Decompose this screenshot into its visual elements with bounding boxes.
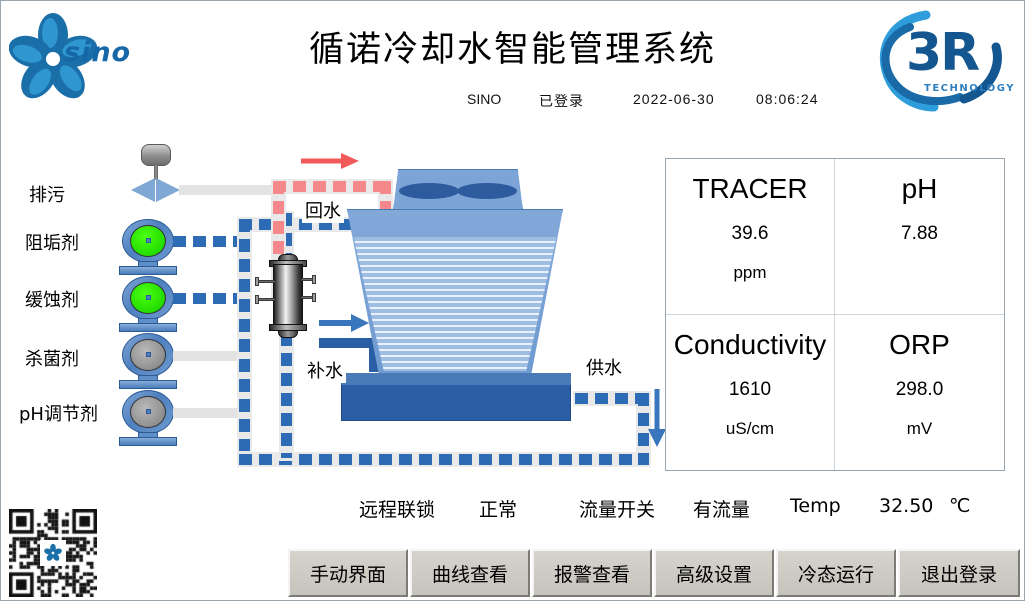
fan-blade-right-icon <box>457 183 517 199</box>
advanced-settings-button[interactable]: 高级设置 <box>654 549 774 597</box>
measurement-cell-conductivity: Conductivity 1610 uS/cm <box>666 315 835 471</box>
label-corrosion-inhibitor: 缓蚀剂 <box>25 286 79 312</box>
login-status: 已登录 <box>539 91 584 111</box>
tracer-name: TRACER <box>692 173 807 205</box>
flow-pipe-left-riser <box>239 219 250 451</box>
remote-interlock-value: 正常 <box>479 495 517 522</box>
conductivity-name: Conductivity <box>674 329 827 361</box>
conductivity-value: 1610 <box>729 379 771 401</box>
qr-code[interactable] <box>9 509 97 597</box>
flow-switch-value: 有流量 <box>693 495 750 522</box>
system-time: 08:06:24 <box>756 91 819 107</box>
trend-view-button[interactable]: 曲线查看 <box>410 549 530 597</box>
cooling-tower[interactable] <box>301 161 601 421</box>
blowdown-pipe <box>179 185 285 195</box>
bottom-button-bar: 手动界面 曲线查看 报警查看 高级设置 冷态运行 退出登录 <box>288 549 1020 597</box>
alarm-view-button[interactable]: 报警查看 <box>532 549 652 597</box>
ph-name: pH <box>902 173 938 205</box>
temp-unit: ℃ <box>949 495 970 517</box>
label-supply-water: 供水 <box>583 354 625 380</box>
header: sino 循诺冷却水智能管理系统 SINO 已登录 2022-06-30 08:… <box>1 1 1024 119</box>
pump-corrosion-inhibitor[interactable] <box>119 276 177 332</box>
tracer-unit: ppm <box>733 263 766 283</box>
temp-value: 32.50 <box>879 495 933 517</box>
hmi-screen: sino 循诺冷却水智能管理系统 SINO 已登录 2022-06-30 08:… <box>0 0 1025 601</box>
pump-shaft-icon <box>146 352 151 357</box>
vessel-shell-icon <box>273 264 303 328</box>
pump-base-icon <box>119 323 177 332</box>
pump-base-icon <box>119 380 177 389</box>
ph-value: 7.88 <box>901 223 938 245</box>
vessel-flange-l2-icon <box>255 295 259 304</box>
orp-name: ORP <box>889 329 950 361</box>
dose-line-scale-inhibitor <box>173 236 245 247</box>
tracer-value: 39.6 <box>732 223 769 245</box>
pump-shaft-icon <box>146 409 151 414</box>
pump-shaft-icon <box>146 295 151 300</box>
logout-button[interactable]: 退出登录 <box>898 549 1020 597</box>
valve-body-left-icon <box>131 178 155 202</box>
dose-line-biocide <box>173 351 245 361</box>
pump-biocide[interactable] <box>119 333 177 389</box>
vessel-flange-l1-icon <box>255 277 259 286</box>
valve-actuator-icon <box>141 144 171 166</box>
vessel-nozzle-left-upper-icon <box>257 280 275 283</box>
label-ph-adjuster: pH调节剂 <box>19 400 98 426</box>
conductivity-unit: uS/cm <box>726 419 774 439</box>
flow-pipe-bottom-header <box>239 454 639 465</box>
current-user: SINO <box>467 91 501 107</box>
temp-label: Temp <box>790 495 841 517</box>
tower-basin-waterline-icon <box>341 373 571 385</box>
cold-start-button[interactable]: 冷态运行 <box>776 549 896 597</box>
label-makeup-water: 补水 <box>304 357 346 383</box>
measurement-cell-ph: pH 7.88 <box>835 159 1004 315</box>
orp-value: 298.0 <box>896 379 944 401</box>
fan-blade-left-icon <box>399 183 459 199</box>
dose-line-corrosion-inhibitor <box>173 293 245 304</box>
3r-technology-logo: 3R TECHNOLOGY <box>868 3 1018 115</box>
measurement-cell-orp: ORP 298.0 mV <box>835 315 1004 471</box>
sino-mini-icon <box>43 543 63 563</box>
label-scale-inhibitor: 阻垢剂 <box>25 229 79 255</box>
pump-base-icon <box>119 437 177 446</box>
pump-base-icon <box>119 266 177 275</box>
measurement-panel: TRACER 39.6 ppm pH 7.88 Conductivity 161… <box>665 158 1005 471</box>
3r-logo-text: 3R <box>906 23 978 83</box>
vessel-bottom-head-icon <box>278 330 298 338</box>
remote-interlock-label: 远程联锁 <box>359 495 435 522</box>
label-blowdown: 排污 <box>29 181 65 207</box>
tower-louvers-icon <box>347 237 563 371</box>
qr-center-logo <box>40 540 66 566</box>
label-return-water: 回水 <box>302 197 344 223</box>
flow-switch-label: 流量开关 <box>579 495 655 522</box>
3r-logo-subtext: TECHNOLOGY <box>924 83 1015 94</box>
pump-scale-inhibitor[interactable] <box>119 219 177 275</box>
manual-screen-button[interactable]: 手动界面 <box>288 549 408 597</box>
valve-body-right-icon <box>156 178 180 202</box>
vessel-nozzle-left-lower-icon <box>257 298 275 301</box>
pump-shaft-icon <box>146 238 151 243</box>
measurement-cell-tracer: TRACER 39.6 ppm <box>666 159 835 315</box>
status-bar: 远程联锁 正常 流量开关 有流量 Temp 32.50 ℃ <box>1 495 1024 529</box>
dose-line-ph-adjuster <box>173 408 245 418</box>
system-date: 2022-06-30 <box>633 91 715 107</box>
orp-unit: mV <box>907 419 933 439</box>
label-biocide: 杀菌剂 <box>25 345 79 371</box>
pump-ph-adjuster[interactable] <box>119 390 177 446</box>
